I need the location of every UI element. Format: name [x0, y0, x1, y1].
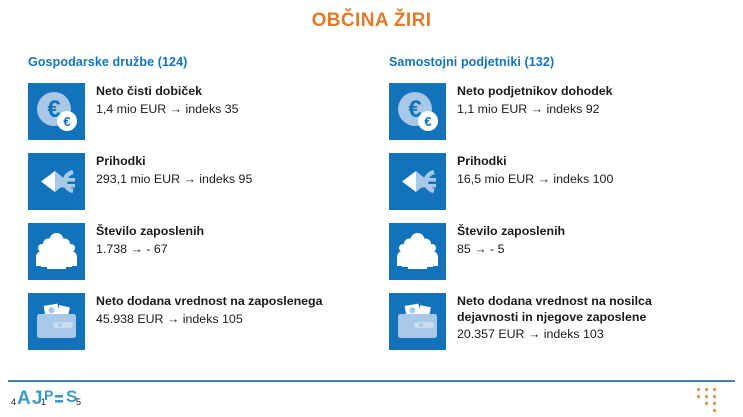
svg-text:P: P [44, 387, 53, 403]
metric-label: Prihodki [457, 154, 613, 170]
slide-canvas: OBČINA ŽIRI Gospodarske družbe (124) € €… [0, 0, 743, 417]
svg-text:€: € [424, 114, 431, 129]
metric-texts: Neto podjetnikov dohodek 1,1 mio EUR → i… [446, 83, 613, 117]
svg-text:€: € [63, 114, 70, 129]
ajpes-logo: 4 A J 1 P S 5 [8, 386, 98, 412]
svg-text:5: 5 [76, 397, 81, 407]
euro-coins-icon: € € [389, 83, 446, 140]
metric-item[interactable]: € € Neto podjetnikov dohodek 1,1 mio EUR… [389, 83, 743, 140]
column-sole-traders: Samostojni podjetniki (132) € € Neto pod… [0, 55, 743, 363]
metric-item[interactable]: Prihodki 16,5 mio EUR → indeks 100 [389, 153, 743, 210]
metric-value: 85 → - 5 [457, 241, 565, 257]
svg-text:4: 4 [11, 397, 16, 407]
metric-value: 1,1 mio EUR → indeks 92 [457, 101, 613, 117]
wallet-cash-icon [389, 293, 446, 350]
wallet-cash-icon [28, 293, 85, 350]
svg-text:A: A [17, 388, 31, 409]
people-group-icon [28, 223, 85, 280]
euro-coins-icon: € € [28, 83, 85, 140]
footer-divider [8, 380, 735, 382]
column-heading-sole-traders: Samostojni podjetniki (132) [389, 55, 743, 69]
metric-item[interactable]: Število zaposlenih 85 → - 5 [389, 223, 743, 280]
metric-label: Neto podjetnikov dohodek [457, 84, 613, 100]
page-title: OBČINA ŽIRI [0, 10, 743, 32]
revenue-funnel-euro-icon [28, 153, 85, 210]
metric-label: Število zaposlenih [457, 224, 565, 240]
revenue-funnel-euro-icon [389, 153, 446, 210]
people-group-icon [389, 223, 446, 280]
metric-label: Neto dodana vrednost na nosilca dejavnos… [457, 294, 652, 325]
metric-item[interactable]: Neto dodana vrednost na nosilca dejavnos… [389, 293, 743, 350]
metric-texts: Število zaposlenih 85 → - 5 [446, 223, 565, 257]
metric-value: 16,5 mio EUR → indeks 100 [457, 171, 613, 187]
decorative-dot-grid [697, 388, 731, 412]
columns-container: Gospodarske družbe (124) € € Neto čisti … [0, 55, 743, 363]
metric-value: 20.357 EUR → indeks 103 [457, 326, 652, 342]
metric-texts: Neto dodana vrednost na nosilca dejavnos… [446, 293, 652, 342]
metric-texts: Prihodki 16,5 mio EUR → indeks 100 [446, 153, 613, 187]
